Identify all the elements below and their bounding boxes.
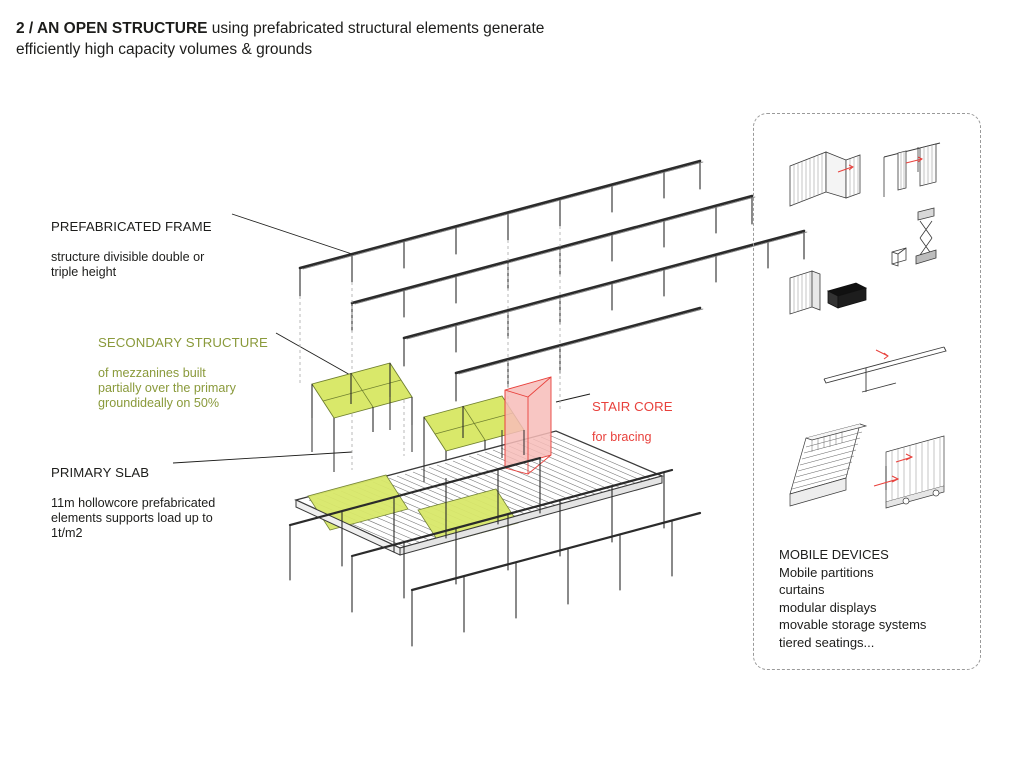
devices-caption-line-2: modular displays <box>779 599 979 617</box>
annotation-body: for bracing <box>592 430 732 445</box>
devices-caption-line-0: Mobile partitions <box>779 564 979 582</box>
lower-frame-2 <box>352 470 672 612</box>
mezzanine-columns <box>312 397 524 506</box>
annotation-title: STAIR CORE <box>592 399 732 414</box>
devices-caption-line-1: curtains <box>779 581 979 599</box>
annotation-title: SECONDARY STRUCTURE <box>98 335 318 350</box>
devices-caption-line-4: tiered seatings... <box>779 634 979 652</box>
section-number: 2 / <box>16 20 37 37</box>
annotation-secondary-structure: SECONDARY STRUCTURE of mezzanines built … <box>98 320 318 426</box>
alignment-guides <box>300 226 560 470</box>
page-title: 2 / AN OPEN STRUCTURE using prefabricate… <box>16 18 716 60</box>
annotation-body: structure divisible double or triple hei… <box>51 250 266 280</box>
lower-frame-1 <box>290 458 540 580</box>
frame-row-3 <box>404 231 807 366</box>
annotation-body: 11m hollowcore prefabricated elements su… <box>51 496 281 542</box>
secondary-structure-platforms <box>312 363 524 478</box>
section-subtitle-line2: efficiently high capacity volumes & grou… <box>16 39 716 60</box>
mezzanine-middle <box>424 396 524 478</box>
annotation-prefabricated-frame: PREFABRICATED FRAME structure divisible … <box>51 204 266 295</box>
slab-green-panels <box>308 475 518 547</box>
stair-core <box>505 377 551 474</box>
lower-support-frames <box>290 458 700 646</box>
frame-row-1 <box>300 161 703 296</box>
devices-caption-line-3: movable storage systems <box>779 616 979 634</box>
annotation-body: of mezzanines built partially over the p… <box>98 366 318 412</box>
section-subtitle: using prefabricated structural elements … <box>207 20 544 37</box>
annotation-title: PRIMARY SLAB <box>51 465 281 480</box>
annotation-stair-core: STAIR CORE for bracing <box>592 384 732 460</box>
frame-row-2 <box>352 196 755 331</box>
lower-frame-3 <box>412 513 700 646</box>
devices-caption-title: MOBILE DEVICES <box>779 546 979 564</box>
section-title: AN OPEN STRUCTURE <box>37 20 208 37</box>
prefabricated-frames <box>300 161 807 401</box>
annotation-title: PREFABRICATED FRAME <box>51 219 266 234</box>
annotation-primary-slab: PRIMARY SLAB 11m hollowcore prefabricate… <box>51 450 281 556</box>
mezzanine-upper-left <box>312 363 412 440</box>
mobile-devices-caption: MOBILE DEVICES Mobile partitions curtain… <box>779 546 979 652</box>
